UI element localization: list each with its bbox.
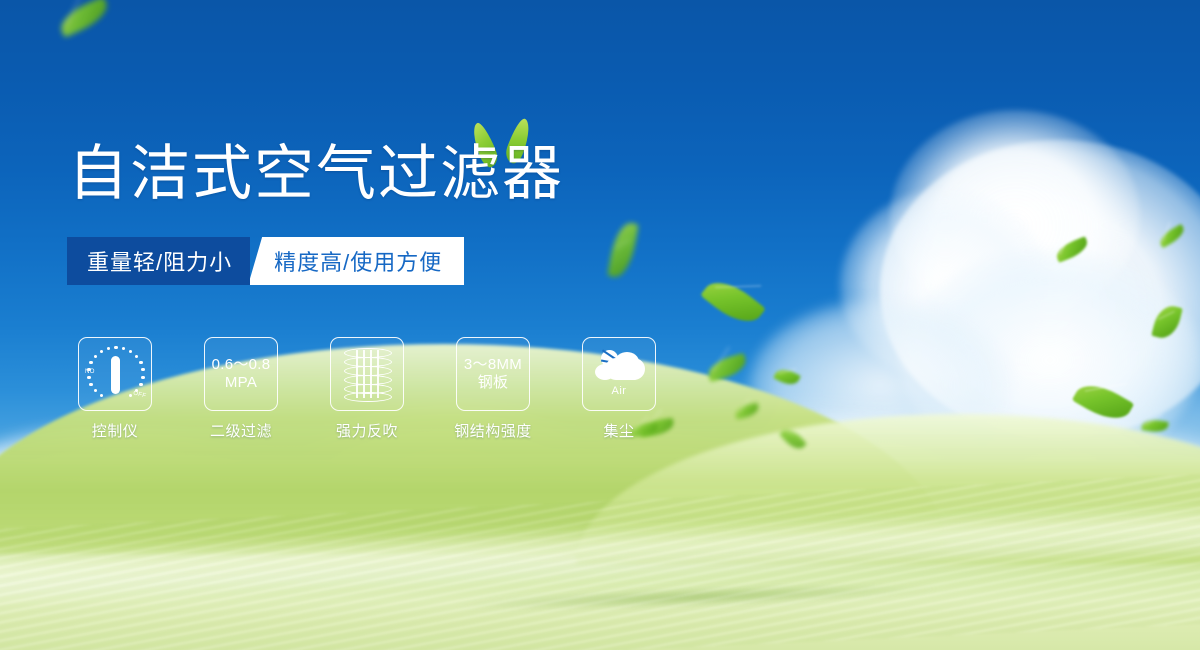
dial-label-off: OFF — [132, 390, 146, 399]
pressure-text-icon: 0.6～0.8 MPA — [212, 356, 271, 393]
feature-icon-box: 3～8MM 钢板 — [456, 337, 530, 411]
feature-item-dust[interactable]: Air 集尘 — [582, 337, 656, 441]
subtitle-left-text: 重量轻/阻力小 — [67, 237, 250, 285]
feature-icon-box: Air — [582, 337, 656, 411]
feature-icon-box: NO OFF — [78, 337, 152, 411]
feature-caption: 集尘 — [603, 420, 634, 441]
product-banner: 自洁式空气过滤器 重量轻/阻力小 精度高/使用方便 — [0, 0, 1200, 650]
feature-item-control[interactable]: NO OFF 控制仪 — [78, 337, 152, 441]
control-dial-icon: NO OFF — [86, 345, 144, 403]
feature-icon-box: 0.6～0.8 MPA — [204, 337, 278, 411]
feature-item-pressure[interactable]: 0.6～0.8 MPA 二级过滤 — [204, 337, 278, 441]
feature-list: NO OFF 控制仪 0.6～0.8 MPA 二级过滤 — [78, 337, 656, 441]
filter-coil-icon — [344, 348, 390, 400]
feature-caption: 钢结构强度 — [454, 420, 532, 441]
cloud-icon-label: Air — [612, 385, 627, 397]
cloud-air-icon — [593, 350, 645, 384]
page-title: 自洁式空气过滤器 — [68, 142, 564, 207]
feature-icon-box — [330, 337, 404, 411]
steel-plate-text-icon: 3～8MM 钢板 — [464, 356, 522, 393]
feature-item-steel[interactable]: 3～8MM 钢板 钢结构强度 — [456, 337, 530, 441]
dial-label-on: NO — [85, 369, 95, 375]
subtitle-bar: 重量轻/阻力小 精度高/使用方便 — [67, 237, 464, 285]
feature-caption: 控制仪 — [92, 420, 139, 441]
subtitle-right-text: 精度高/使用方便 — [248, 237, 464, 285]
feature-item-blowback[interactable]: 强力反吹 — [330, 337, 404, 441]
feature-caption: 二级过滤 — [210, 420, 272, 441]
feature-caption: 强力反吹 — [336, 420, 398, 441]
